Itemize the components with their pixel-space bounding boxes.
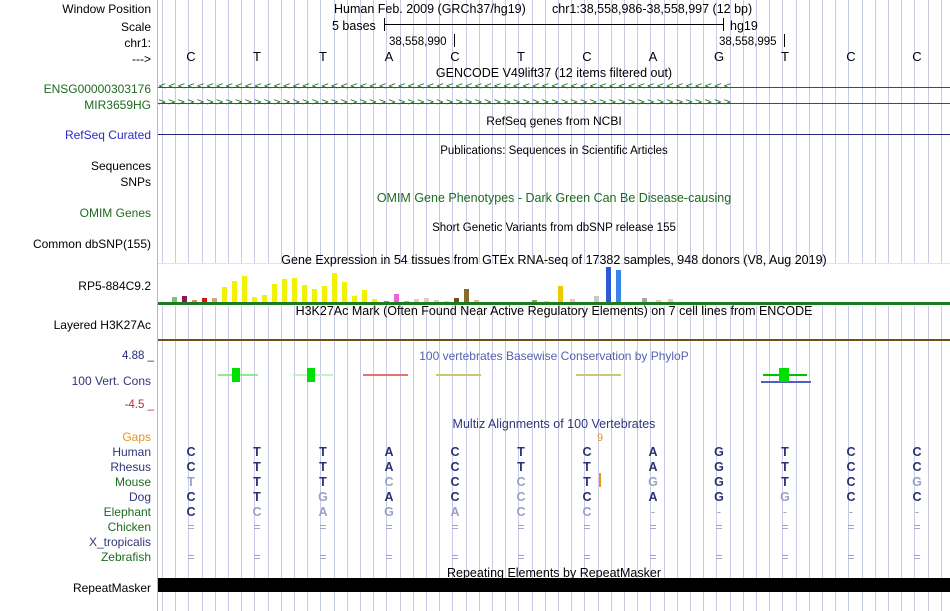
- alignment-base: =: [448, 550, 462, 564]
- gtex-bars: [158, 265, 950, 303]
- alignment-base: G: [712, 475, 726, 489]
- ruler-base-9: T: [778, 49, 792, 64]
- alignment-base: C: [910, 490, 924, 504]
- alignment-base: C: [250, 505, 264, 519]
- species-label-zebrafish[interactable]: Zebrafish: [0, 550, 154, 564]
- scale-bar: [384, 18, 724, 31]
- conservation-bar: [779, 368, 789, 382]
- ruler-base-8: G: [712, 49, 726, 64]
- ruler-base-4: C: [448, 49, 462, 64]
- alignment-base: T: [316, 460, 330, 474]
- alignment-base: =: [910, 550, 924, 564]
- alignment-base: C: [580, 490, 594, 504]
- snps-label[interactable]: SNPs: [0, 175, 154, 189]
- alignment-base: G: [382, 505, 396, 519]
- alignment-base: A: [316, 505, 330, 519]
- alignment-base: -: [844, 505, 858, 519]
- alignment-base: C: [844, 490, 858, 504]
- alignment-base: C: [448, 460, 462, 474]
- multiz-track-title: Multiz Alignments of 100 Vertebrates: [158, 417, 950, 431]
- ruler-coordinate-1: 38,558,995: [719, 36, 777, 48]
- alignment-base: C: [448, 490, 462, 504]
- alignment-base: T: [250, 475, 264, 489]
- alignment-base: C: [184, 445, 198, 459]
- alignment-base: A: [382, 490, 396, 504]
- alignment-base: =: [712, 520, 726, 534]
- species-label-mouse[interactable]: Mouse: [0, 475, 154, 489]
- ruler-base-5: T: [514, 49, 528, 64]
- alignment-base: -: [910, 505, 924, 519]
- scale-label: Scale: [0, 20, 154, 34]
- alignment-base: =: [184, 550, 198, 564]
- alignment-base: C: [910, 445, 924, 459]
- alignment-base: C: [580, 505, 594, 519]
- conservation-span: [436, 374, 481, 376]
- alignment-base: A: [646, 460, 660, 474]
- omim-track-title: OMIM Gene Phenotypes - Dark Green Can Be…: [158, 191, 950, 205]
- alignment-base: C: [382, 475, 396, 489]
- alignment-base: C: [184, 505, 198, 519]
- alignment-base: =: [712, 550, 726, 564]
- alignment-base: T: [778, 460, 792, 474]
- alignment-base: G: [712, 460, 726, 474]
- ruler-base-6: C: [580, 49, 594, 64]
- gencode-transcript-row-1[interactable]: >>>>>>>>>>>>>>>>>>>>>>>>>>>>>>>>>>>>>>>>…: [158, 98, 950, 109]
- ruler-base-10: C: [844, 49, 858, 64]
- gtex-gene-label[interactable]: RP5-884C9.2: [0, 279, 154, 293]
- chrom-label: chr1:: [0, 36, 154, 50]
- alignment-base: =: [646, 520, 660, 534]
- layered-h3k27ac-label[interactable]: Layered H3K27Ac: [0, 318, 154, 332]
- alignment-base: =: [382, 520, 396, 534]
- alignment-base: C: [910, 460, 924, 474]
- ruler-tick-0: [454, 34, 455, 47]
- species-label-chicken[interactable]: Chicken: [0, 520, 154, 534]
- alignment-base: =: [580, 520, 594, 534]
- alignment-base: C: [184, 460, 198, 474]
- alignment-base: =: [316, 520, 330, 534]
- alignment-base: =: [778, 550, 792, 564]
- conservation-label[interactable]: 100 Vert. Cons: [0, 374, 154, 388]
- assembly-db-label: hg19: [730, 19, 758, 33]
- refseq-feature-line[interactable]: [158, 134, 950, 135]
- ruler-coordinate-0: 38,558,990: [389, 36, 447, 48]
- conservation-span: [363, 374, 408, 376]
- alignment-base: G: [316, 490, 330, 504]
- position-text: chr1:38,558,986-38,558,997 (12 bp): [552, 2, 752, 16]
- gaps-label[interactable]: Gaps: [0, 430, 154, 444]
- alignment-base: =: [448, 520, 462, 534]
- alignment-base: T: [778, 445, 792, 459]
- alignment-base: =: [382, 550, 396, 564]
- alignment-base: =: [316, 550, 330, 564]
- sequences-label[interactable]: Sequences: [0, 159, 154, 173]
- gtex-baseline: [158, 302, 950, 305]
- species-label-dog[interactable]: Dog: [0, 490, 154, 504]
- gtex-bar: [242, 276, 247, 303]
- gtex-bar: [312, 289, 317, 303]
- omim-genes-label[interactable]: OMIM Genes: [0, 206, 154, 220]
- ruler-base-1: T: [250, 49, 264, 64]
- alignment-base: =: [514, 550, 528, 564]
- alignment-base: T: [580, 475, 594, 489]
- gtex-bar: [342, 282, 347, 303]
- species-label-elephant[interactable]: Elephant: [0, 505, 154, 519]
- alignment-base: T: [778, 475, 792, 489]
- gtex-bar: [272, 284, 277, 303]
- alignment-base: =: [778, 520, 792, 534]
- alignment-base: T: [250, 445, 264, 459]
- window-position-label: Window Position: [0, 2, 154, 16]
- ruler-base-0: C: [184, 49, 198, 64]
- gtex-bar: [606, 267, 611, 303]
- alignment-base: A: [646, 445, 660, 459]
- ruler-tick-1: [784, 34, 785, 47]
- gtex-bar: [292, 278, 297, 303]
- alignment-base: C: [448, 475, 462, 489]
- conservation-min-label: -4.5 _: [0, 399, 154, 411]
- alignment-base: T: [514, 445, 528, 459]
- h3k27ac-track-title: H3K27Ac Mark (Often Found Near Active Re…: [158, 304, 950, 318]
- gtex-bar: [332, 273, 337, 303]
- conservation-span: [576, 374, 621, 376]
- alignment-base: A: [448, 505, 462, 519]
- publications-track-title: Publications: Sequences in Scientific Ar…: [158, 145, 950, 157]
- alignment-base: G: [712, 490, 726, 504]
- ucsc-genome-browser-image[interactable]: Window Position Human Feb. 2009 (GRCh37/…: [0, 0, 950, 611]
- alignment-base: A: [382, 445, 396, 459]
- conservation-max-label: 4.88 _: [0, 350, 154, 362]
- alignment-base: =: [646, 550, 660, 564]
- alignment-base: G: [778, 490, 792, 504]
- ruler-base-3: A: [382, 49, 396, 64]
- species-label-human[interactable]: Human: [0, 445, 154, 459]
- alignment-base: T: [580, 460, 594, 474]
- ruler-base-2: T: [316, 49, 330, 64]
- common-dbsnp-label[interactable]: Common dbSNP(155): [0, 237, 154, 251]
- gencode-item-label-1[interactable]: MIR3659HG: [0, 98, 154, 112]
- repeatmasker-label[interactable]: RepeatMasker: [0, 581, 154, 595]
- alignment-base: G: [646, 475, 660, 489]
- gtex-bar: [464, 289, 469, 303]
- conservation-track-title: 100 vertebrates Basewise Conservation by…: [158, 349, 950, 363]
- alignment-base: G: [910, 475, 924, 489]
- gencode-track-title: GENCODE V49lift37 (12 items filtered out…: [158, 66, 950, 80]
- ruler-base-11: C: [910, 49, 924, 64]
- gtex-track-title: Gene Expression in 54 tissues from GTEx …: [158, 253, 950, 267]
- alignment-base: =: [910, 520, 924, 534]
- alignment-base: =: [250, 520, 264, 534]
- gtex-bar: [558, 286, 563, 303]
- refseq-track-title: RefSeq genes from NCBI: [158, 114, 950, 128]
- alignment-base: -: [646, 505, 660, 519]
- alignment-base: -: [778, 505, 792, 519]
- refseq-curated-label[interactable]: RefSeq Curated: [0, 128, 154, 142]
- alignment-base: C: [514, 490, 528, 504]
- alignment-base: T: [250, 460, 264, 474]
- alignment-base: C: [580, 445, 594, 459]
- alignment-base: G: [712, 445, 726, 459]
- gtex-bar: [302, 285, 307, 303]
- gtex-bar: [616, 270, 621, 303]
- gtex-bar: [222, 287, 227, 303]
- alignment-base: C: [184, 490, 198, 504]
- gap-marker: [599, 473, 601, 487]
- alignment-base: T: [514, 460, 528, 474]
- alignment-base: C: [844, 445, 858, 459]
- alignment-base: -: [712, 505, 726, 519]
- alignment-base: T: [316, 475, 330, 489]
- alignment-base: C: [844, 475, 858, 489]
- alignment-base: T: [250, 490, 264, 504]
- alignment-base: C: [514, 505, 528, 519]
- alignment-base: A: [382, 460, 396, 474]
- gtex-bar: [282, 279, 287, 303]
- alignment-base: A: [646, 490, 660, 504]
- gtex-bar: [232, 281, 237, 303]
- alignment-base: C: [844, 460, 858, 474]
- alignment-base: T: [184, 475, 198, 489]
- species-label-x_tropicalis[interactable]: X_tropicalis: [0, 535, 154, 549]
- gencode-transcript-row-0[interactable]: <<<<<<<<<<<<<<<<<<<<<<<<<<<<<<<<<<<<<<<<…: [158, 82, 950, 93]
- gencode-item-label-0[interactable]: ENSG00000303176: [0, 82, 154, 96]
- gap-count-label: 9: [593, 432, 607, 444]
- conservation-bar: [307, 368, 315, 382]
- conservation-top-border: [158, 339, 950, 341]
- alignment-base: =: [844, 520, 858, 534]
- alignment-base: C: [448, 445, 462, 459]
- alignment-base: =: [580, 550, 594, 564]
- alignment-base: =: [844, 550, 858, 564]
- gtex-expression-chart[interactable]: [158, 263, 950, 306]
- ruler-base-7: A: [646, 49, 660, 64]
- scale-bases-text: 5 bases: [332, 19, 376, 33]
- strand-arrow-label: --->: [0, 52, 154, 66]
- gtex-bar: [322, 286, 327, 303]
- species-label-rhesus[interactable]: Rhesus: [0, 460, 154, 474]
- alignment-base: C: [514, 475, 528, 489]
- repeatmasker-feature-bar[interactable]: [158, 578, 950, 592]
- conservation-bar: [232, 368, 240, 382]
- alignment-base: T: [316, 445, 330, 459]
- alignment-base: =: [184, 520, 198, 534]
- assembly-text: Human Feb. 2009 (GRCh37/hg19): [334, 2, 526, 16]
- alignment-base: =: [250, 550, 264, 564]
- dbsnp-track-title: Short Genetic Variants from dbSNP releas…: [158, 222, 950, 234]
- alignment-base: =: [514, 520, 528, 534]
